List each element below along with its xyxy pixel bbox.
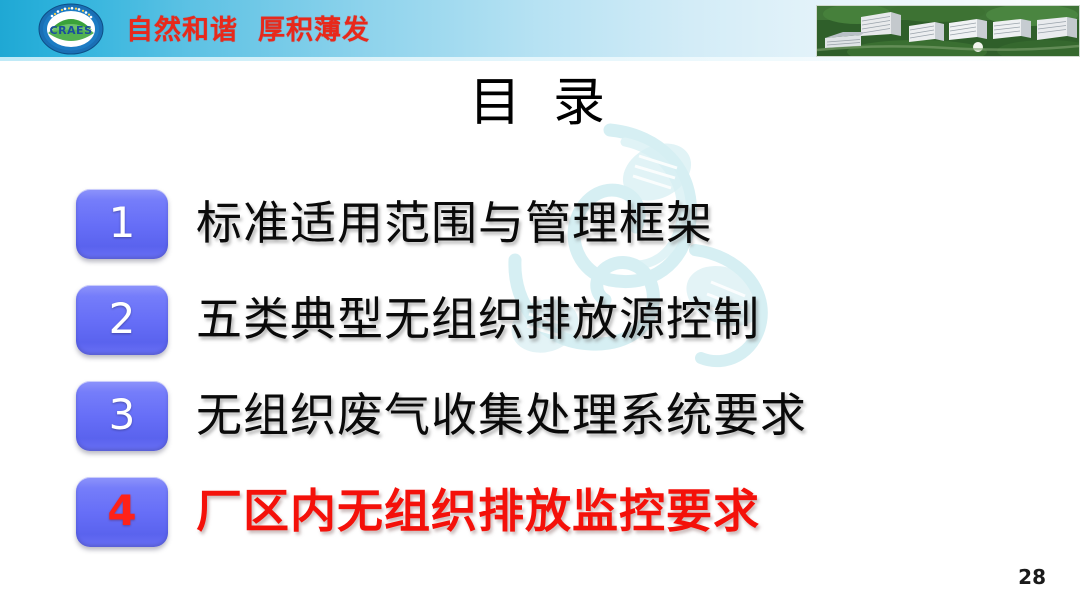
toc-number-2: 2 [109,298,136,340]
toc-list: 1 标准适用范围与管理框架 2 五类典型无组织排放源控制 3 无组织废气收集处理… [0,186,1080,570]
slogan-part-2: 厚积薄发 [258,15,370,46]
header-underline [0,57,1080,61]
campus-aerial-photo [816,5,1080,57]
toc-label-1: 标准适用范围与管理框架 [196,186,713,260]
presentation-slide: CRAES 自然和谐厚积薄发 [0,0,1080,607]
toc-number-badge-4[interactable]: 4 [76,477,168,547]
toc-item-3[interactable]: 3 无组织废气收集处理系统要求 [0,378,1080,474]
slogan-part-1: 自然和谐 [126,15,238,46]
page-title-char-1: 目 [469,73,527,133]
toc-number-4: 4 [107,490,136,532]
toc-number-badge-3[interactable]: 3 [76,381,168,451]
toc-number-3: 3 [109,394,136,436]
svg-text:CRAES: CRAES [50,24,93,37]
toc-label-3: 无组织废气收集处理系统要求 [196,378,807,452]
page-title-char-2: 录 [553,73,611,133]
toc-label-2: 五类典型无组织排放源控制 [196,282,760,356]
page-title: 目录 [0,70,1080,136]
toc-number-badge-2[interactable]: 2 [76,285,168,355]
toc-item-2[interactable]: 2 五类典型无组织排放源控制 [0,282,1080,378]
toc-label-4: 厂区内无组织排放监控要求 [196,474,760,548]
header-slogan: 自然和谐厚积薄发 [126,16,370,46]
craes-logo-icon: CRAES [38,3,104,55]
toc-item-4[interactable]: 4 厂区内无组织排放监控要求 [0,474,1080,570]
toc-number-1: 1 [109,202,136,244]
page-number: 28 [1018,565,1046,589]
toc-number-badge-1[interactable]: 1 [76,189,168,259]
toc-item-1[interactable]: 1 标准适用范围与管理框架 [0,186,1080,282]
